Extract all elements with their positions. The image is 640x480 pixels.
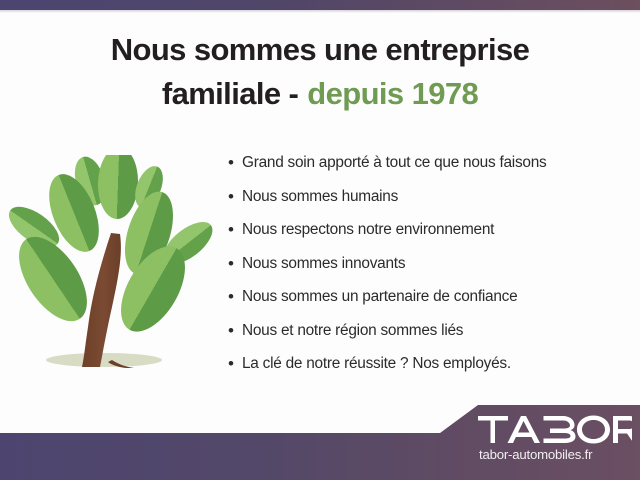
heading-line-2-black: familiale - [162, 76, 298, 111]
list-item: • Nous respectons notre environnement [228, 219, 630, 253]
bullet-list: • Grand soin apporté à tout ce que nous … [228, 152, 630, 387]
heading-line-2-green: depuis 1978 [307, 76, 478, 111]
bullet-dot-icon: • [228, 186, 242, 207]
list-item: • Nous sommes un partenaire de confiance [228, 286, 630, 320]
tree-shadow-ellipse [46, 353, 162, 367]
tabor-wordmark-icon [477, 414, 632, 445]
top-accent-strip-shadow [0, 10, 640, 13]
tree-illustration [8, 155, 223, 385]
list-item-label: La clé de notre réussite ? Nos employés. [242, 353, 630, 374]
list-item: • Grand soin apporté à tout ce que nous … [228, 152, 630, 186]
list-item-label: Nous sommes un partenaire de confiance [242, 286, 630, 307]
list-item: • Nous sommes innovants [228, 253, 630, 287]
bullet-dot-icon: • [228, 253, 242, 274]
bullet-dot-icon: • [228, 320, 242, 341]
tree-leaf [97, 155, 139, 220]
heading-line-1: Nous sommes une entreprise [111, 32, 530, 67]
list-item-label: Nous et notre région sommes liés [242, 320, 630, 341]
list-item: • Nous et notre région sommes liés [228, 320, 630, 354]
bullet-dot-icon: • [228, 353, 242, 374]
presentation-slide: Nous sommes une entreprise familiale -de… [0, 0, 640, 480]
bullet-dot-icon: • [228, 152, 242, 173]
list-item-label: Nous respectons notre environnement [242, 219, 630, 240]
logo-tagline: tabor-automobiles.fr [479, 447, 640, 463]
brand-logo[interactable]: tabor-automobiles.fr [477, 414, 640, 463]
top-accent-strip [0, 0, 640, 10]
bullet-dot-icon: • [228, 219, 242, 240]
tree-trunk [82, 233, 121, 367]
list-item-label: Nous sommes innovants [242, 253, 630, 274]
list-item: • La clé de notre réussite ? Nos employé… [228, 353, 630, 387]
slide-heading: Nous sommes une entreprise familiale -de… [0, 28, 640, 116]
list-item-label: Grand soin apporté à tout ce que nous fa… [242, 152, 630, 173]
list-item-label: Nous sommes humains [242, 186, 630, 207]
bullet-dot-icon: • [228, 286, 242, 307]
list-item: • Nous sommes humains [228, 186, 630, 220]
